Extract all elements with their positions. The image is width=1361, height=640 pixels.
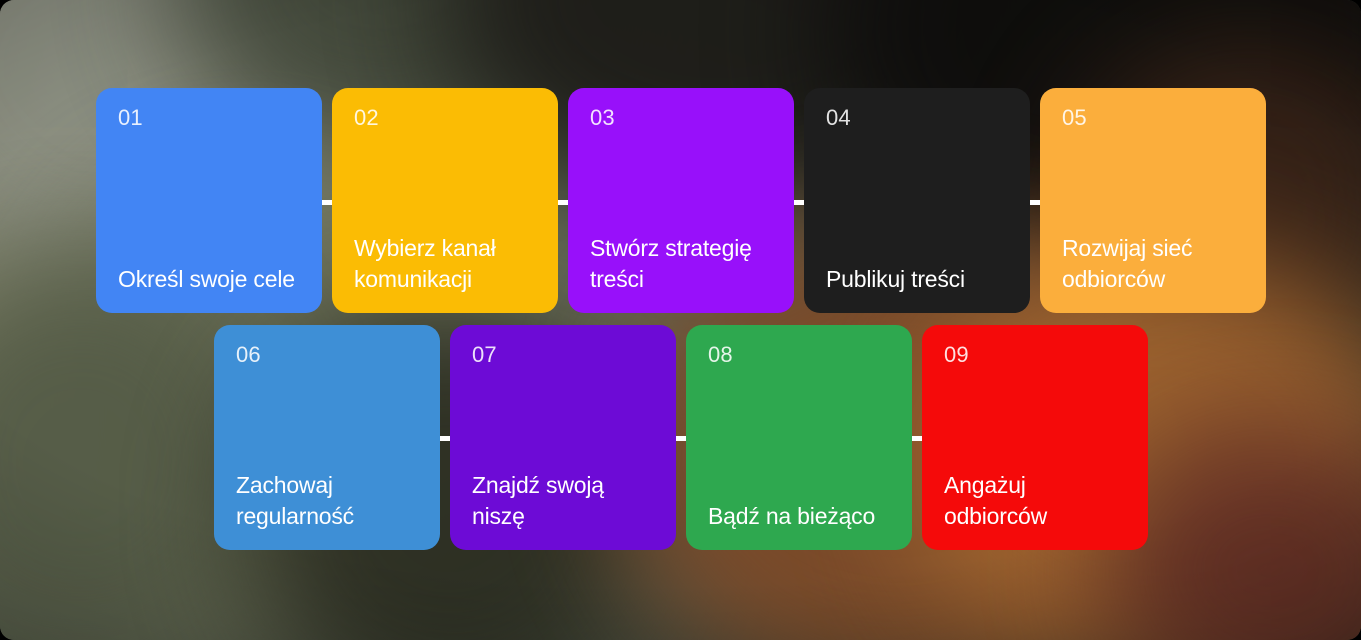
step-card-title: Angażuj odbiorców <box>944 470 1130 532</box>
step-card-06[interactable]: 06Zachowaj regularność <box>214 325 440 550</box>
step-card-03[interactable]: 03Stwórz strategię treści <box>568 88 794 313</box>
step-card-title: Określ swoje cele <box>118 264 304 295</box>
step-card-number: 01 <box>118 107 143 129</box>
step-card-title: Bądź na bieżąco <box>708 501 894 532</box>
step-card-title: Wybierz kanał komunikacji <box>354 233 540 295</box>
step-card-board: 01Określ swoje cele02Wybierz kanał komun… <box>0 0 1361 640</box>
step-card-number: 04 <box>826 107 851 129</box>
step-card-title: Zachowaj regularność <box>236 470 422 532</box>
step-card-title: Stwórz strategię treści <box>590 233 776 295</box>
step-card-05[interactable]: 05Rozwijaj sieć odbiorców <box>1040 88 1266 313</box>
step-card-title: Rozwijaj sieć odbiorców <box>1062 233 1248 295</box>
step-card-08[interactable]: 08Bądź na bieżąco <box>686 325 912 550</box>
step-card-number: 07 <box>472 344 497 366</box>
infographic-canvas: 01Określ swoje cele02Wybierz kanał komun… <box>0 0 1361 640</box>
step-card-09[interactable]: 09Angażuj odbiorców <box>922 325 1148 550</box>
step-card-number: 05 <box>1062 107 1087 129</box>
step-card-01[interactable]: 01Określ swoje cele <box>96 88 322 313</box>
step-card-number: 02 <box>354 107 379 129</box>
step-card-title: Znajdź swoją niszę <box>472 470 658 532</box>
step-card-number: 06 <box>236 344 261 366</box>
step-card-07[interactable]: 07Znajdź swoją niszę <box>450 325 676 550</box>
step-card-number: 09 <box>944 344 969 366</box>
step-card-04[interactable]: 04Publikuj treści <box>804 88 1030 313</box>
step-card-number: 03 <box>590 107 615 129</box>
step-card-title: Publikuj treści <box>826 264 1012 295</box>
step-card-number: 08 <box>708 344 733 366</box>
step-card-02[interactable]: 02Wybierz kanał komunikacji <box>332 88 558 313</box>
